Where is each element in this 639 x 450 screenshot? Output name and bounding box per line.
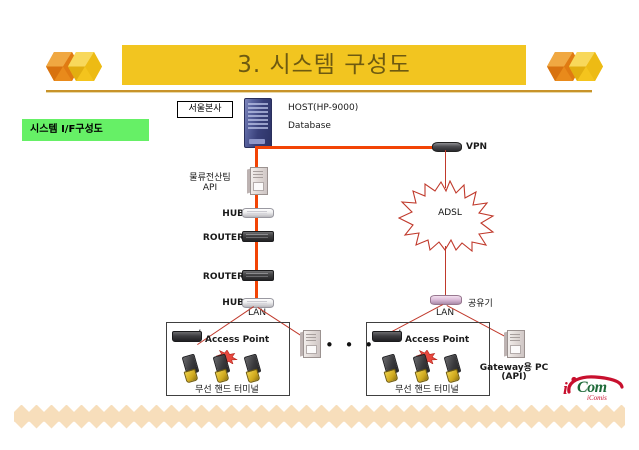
- network-router-icon-top: [242, 231, 274, 242]
- header-divider-shadow: [46, 92, 592, 93]
- slide-canvas: 3. 시스템 구성도 시스템 I/F구성도 서울본사 HOST(HP-9000)…: [0, 0, 639, 450]
- host-label-line1: HOST(HP-9000): [288, 103, 358, 113]
- section-tag: 시스템 I/F구성도: [22, 119, 149, 141]
- handheld-terminal-icon-right-3: [446, 355, 458, 381]
- network-router-icon-bottom: [242, 270, 274, 281]
- logistics-api-pc-icon: [247, 167, 266, 193]
- gateway-pc-icon: [504, 330, 523, 356]
- access-point-icon-right: [372, 329, 400, 342]
- footer-diamond: [609, 405, 625, 429]
- icom-logo: i Com iComis: [563, 377, 627, 403]
- sharer-label: 공유기: [468, 296, 493, 309]
- api-team-label-line1: 물류전산팀: [176, 170, 244, 183]
- vpn-device-icon: [432, 142, 462, 152]
- handheld-terminal-icon-right-1: [384, 355, 396, 381]
- hub-top-label: HUB: [186, 209, 244, 219]
- hq-box: 서울본사: [177, 101, 233, 118]
- handheld-terminal-icon-left-2: [215, 355, 227, 381]
- access-point-label-left: Access Point: [205, 335, 269, 345]
- backbone-horizontal-vpn: [255, 146, 442, 149]
- api-team-label-line2: API: [176, 183, 244, 193]
- terminals-label-left: 무선 핸드 터미널: [175, 382, 279, 395]
- hexagon-pair-icon-left: [46, 50, 106, 83]
- adsl-to-sharer-link: [445, 246, 446, 295]
- logo-subtext: iComis: [587, 394, 607, 402]
- access-point-label-right: Access Point: [405, 335, 469, 345]
- host-label-line2: Database: [288, 121, 331, 131]
- branch-pc-icon-left: [300, 330, 319, 356]
- handheld-terminal-icon-right-2: [415, 355, 427, 381]
- server-tower-icon: [244, 98, 272, 148]
- wireless-sharer-icon: [430, 295, 462, 305]
- page-title: 3. 시스템 구성도: [122, 45, 526, 85]
- access-point-icon-left: [172, 329, 200, 342]
- hexagon-pair-icon-right: [547, 50, 607, 83]
- logo-mark: i: [563, 379, 568, 399]
- router-bottom-label: ROUTER: [176, 272, 244, 282]
- adsl-label: ADSL: [398, 208, 502, 218]
- section-tag-label: 시스템 I/F구성도: [22, 119, 149, 141]
- footer-diamond-border: [14, 405, 625, 429]
- hub-bottom-label: HUB: [186, 298, 244, 308]
- router-top-label: ROUTER: [176, 233, 244, 243]
- gateway-pc-label-line2: (API): [477, 372, 551, 382]
- network-hub-icon-top: [242, 208, 274, 218]
- vpn-label: VPN: [466, 142, 487, 152]
- handheld-terminal-icon-left-3: [246, 355, 258, 381]
- terminals-label-right: 무선 핸드 터미널: [375, 382, 479, 395]
- handheld-terminal-icon-left-1: [184, 355, 196, 381]
